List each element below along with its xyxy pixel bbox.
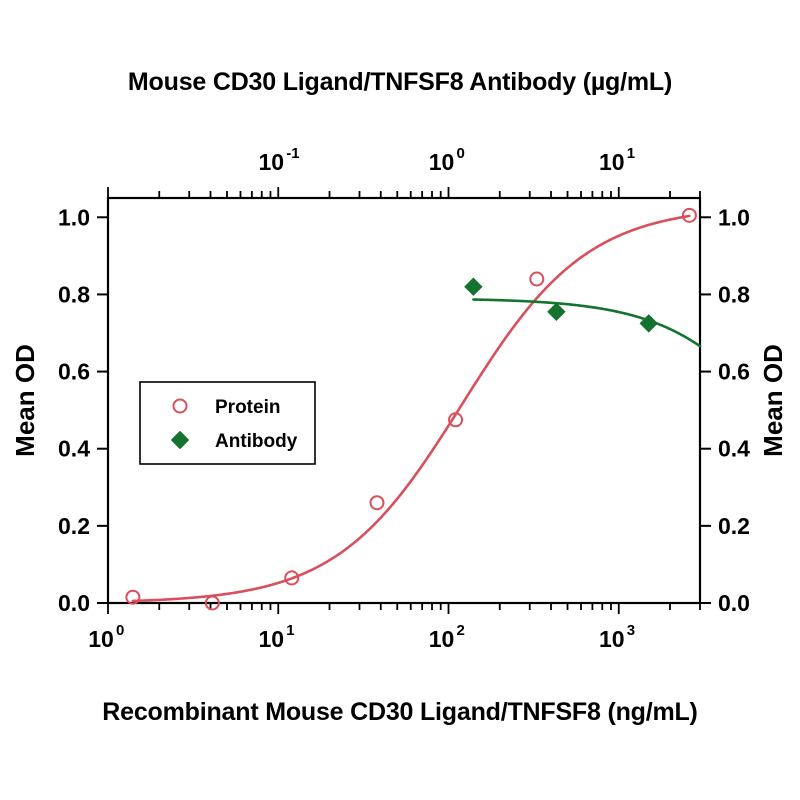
- y-tick-label-right: 0.8: [718, 281, 750, 307]
- y-tick-label-right: 0.0: [718, 590, 750, 616]
- svg-text:3: 3: [627, 622, 635, 639]
- x-tick-label-bottom: 103: [599, 622, 635, 652]
- series-markers-antibody: [465, 278, 657, 332]
- y-tick-label-right: 1.0: [718, 204, 750, 230]
- svg-text:-1: -1: [286, 145, 299, 162]
- y-tick-label-right: 0.2: [718, 513, 750, 539]
- bottom-axis-minor-ticks: [108, 603, 700, 614]
- svg-text:0: 0: [116, 622, 124, 639]
- svg-text:1: 1: [286, 622, 294, 639]
- svg-text:1: 1: [627, 145, 635, 162]
- svg-text:10: 10: [429, 149, 455, 175]
- y-tick-label-left: 0.6: [58, 359, 90, 385]
- x-tick-label-bottom: 102: [429, 622, 465, 652]
- right-axis-title: Mean OD: [758, 344, 788, 457]
- top-axis-minor-ticks: [108, 187, 700, 198]
- y-tick-label-right: 0.4: [718, 436, 750, 462]
- svg-text:2: 2: [457, 622, 465, 639]
- x-tick-label-top: 101: [599, 145, 635, 175]
- y-tick-label-left: 0.4: [58, 436, 90, 462]
- data-point: [370, 496, 383, 509]
- x-tick-label-top: 100: [429, 145, 465, 175]
- svg-text:10: 10: [258, 149, 284, 175]
- svg-text:0: 0: [457, 145, 465, 162]
- data-point: [548, 303, 565, 320]
- svg-text:10: 10: [258, 626, 284, 652]
- legend-label-protein: Protein: [215, 397, 280, 418]
- svg-text:10: 10: [88, 626, 114, 652]
- y-tick-label-left: 0.2: [58, 513, 90, 539]
- y-tick-label-left: 1.0: [58, 204, 90, 230]
- x-tick-label-bottom: 100: [88, 622, 124, 652]
- svg-text:10: 10: [599, 149, 625, 175]
- data-point: [465, 278, 482, 295]
- y-tick-label-left: 0.8: [58, 281, 90, 307]
- x-tick-label-top: 10-1: [258, 145, 299, 175]
- plot-svg: 0.00.00.20.20.40.40.60.60.80.81.01.01001…: [0, 0, 800, 800]
- x-tick-label-bottom: 101: [258, 622, 294, 652]
- figure-container: Mouse CD30 Ligand/TNFSF8 Antibody (µg/mL…: [0, 0, 800, 800]
- svg-text:10: 10: [599, 626, 625, 652]
- left-axis-title: Mean OD: [10, 344, 40, 457]
- data-point: [530, 273, 543, 286]
- y-tick-label-right: 0.6: [718, 359, 750, 385]
- legend-label-antibody: Antibody: [215, 431, 298, 452]
- fit-curve-antibody: [473, 300, 700, 347]
- y-tick-label-left: 0.0: [58, 590, 90, 616]
- svg-text:10: 10: [429, 626, 455, 652]
